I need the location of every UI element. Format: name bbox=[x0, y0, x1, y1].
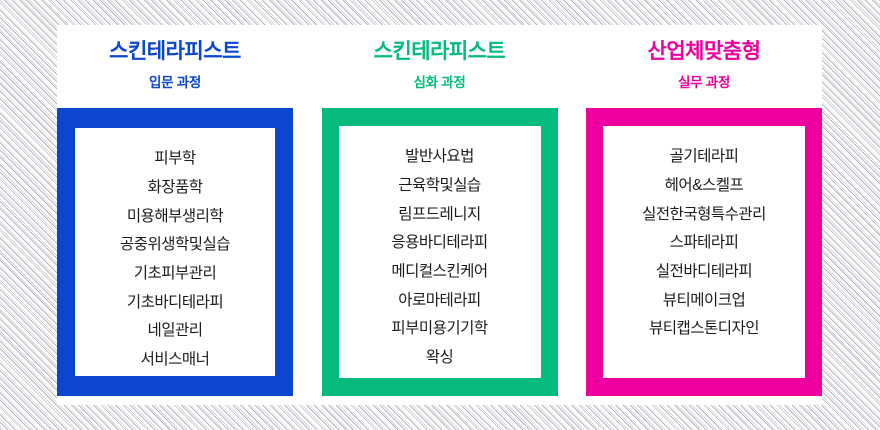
list-item: 피부학 bbox=[154, 145, 195, 174]
course-track-title: 스킨테라피스트 bbox=[374, 40, 506, 64]
list-item: 기초피부관리 bbox=[134, 260, 217, 289]
course-track-subtitle: 입문 과정 bbox=[149, 71, 201, 91]
list-item: 뷰티메이크업 bbox=[663, 287, 746, 316]
list-item: 공중위생학및실습 bbox=[120, 231, 230, 260]
course-list: 피부학 화장품학 미용해부생리학 공중위생학및실습 기초피부관리 기초바디테라피… bbox=[75, 128, 275, 376]
list-item: 실전바디테라피 bbox=[656, 258, 752, 287]
list-item: 헤어&스켈프 bbox=[665, 172, 744, 201]
list-item: 피부미용기기학 bbox=[391, 315, 487, 344]
list-item: 근육학및실습 bbox=[398, 172, 481, 201]
list-item: 응용바디테라피 bbox=[391, 229, 487, 258]
course-track-subtitle: 실무 과정 bbox=[678, 71, 730, 91]
list-item: 화장품학 bbox=[147, 174, 202, 203]
list-item: 발반사요법 bbox=[405, 143, 474, 172]
list-item: 왁싱 bbox=[426, 344, 454, 373]
course-track-title: 스킨테라피스트 bbox=[109, 40, 241, 64]
list-item: 기초바디테라피 bbox=[127, 289, 223, 318]
course-list-box: 발반사요법 근육학및실습 림프드레니지 응용바디테라피 메디컬스킨케어 아로마테… bbox=[322, 108, 558, 396]
list-item: 아로마테라피 bbox=[398, 287, 481, 316]
course-list: 골기테라피 헤어&스켈프 실전한국형특수관리 스파테라피 실전바디테라피 뷰티메… bbox=[603, 126, 805, 378]
course-track-title: 산업체맞춤형 bbox=[648, 40, 761, 64]
list-item: 메디컬스킨케어 bbox=[391, 258, 487, 287]
list-item: 실전한국형특수관리 bbox=[642, 201, 766, 230]
course-list-box: 골기테라피 헤어&스켈프 실전한국형특수관리 스파테라피 실전바디테라피 뷰티메… bbox=[586, 108, 822, 396]
list-item: 서비스매너 bbox=[141, 346, 210, 375]
course-track-column: 스킨테라피스트 입문 과정 피부학 화장품학 미용해부생리학 공중위생학및실습 … bbox=[57, 25, 293, 396]
list-item: 미용해부생리학 bbox=[127, 203, 223, 232]
curriculum-infographic: 스킨테라피스트 입문 과정 피부학 화장품학 미용해부생리학 공중위생학및실습 … bbox=[0, 0, 880, 430]
course-list: 발반사요법 근육학및실습 림프드레니지 응용바디테라피 메디컬스킨케어 아로마테… bbox=[339, 126, 541, 378]
list-item: 네일관리 bbox=[147, 317, 202, 346]
course-track-column: 스킨테라피스트 심화 과정 발반사요법 근육학및실습 림프드레니지 응용바디테라… bbox=[322, 25, 558, 396]
list-item: 뷰티캡스톤디자인 bbox=[649, 315, 759, 344]
course-track-subtitle: 심화 과정 bbox=[414, 71, 466, 91]
list-item: 골기테라피 bbox=[670, 143, 739, 172]
course-track-columns: 스킨테라피스트 입문 과정 피부학 화장품학 미용해부생리학 공중위생학및실습 … bbox=[57, 25, 822, 405]
list-item: 스파테라피 bbox=[670, 229, 739, 258]
list-item: 림프드레니지 bbox=[398, 201, 481, 230]
course-track-column: 산업체맞춤형 실무 과정 골기테라피 헤어&스켈프 실전한국형특수관리 스파테라… bbox=[586, 25, 822, 396]
course-list-box: 피부학 화장품학 미용해부생리학 공중위생학및실습 기초피부관리 기초바디테라피… bbox=[57, 108, 293, 396]
